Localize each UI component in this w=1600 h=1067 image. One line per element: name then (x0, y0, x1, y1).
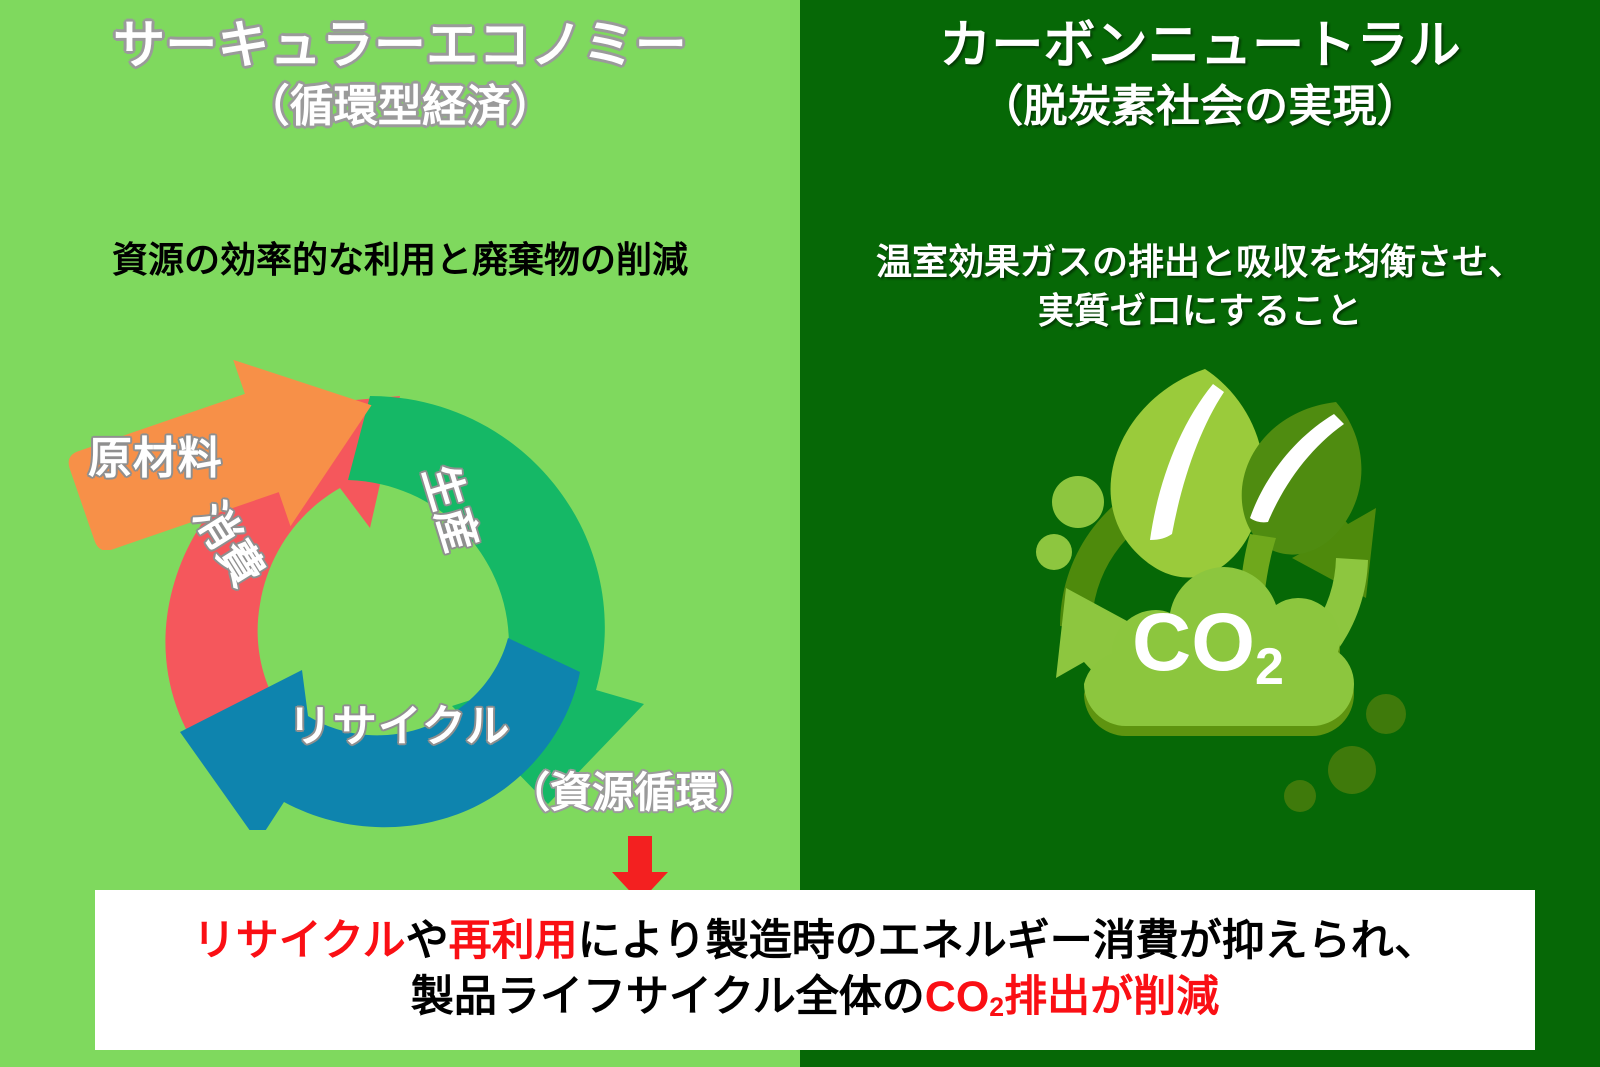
left-title-sub: （循環型経済） (0, 81, 800, 133)
left-title-main: サーキュラーエコノミー (0, 16, 800, 77)
decorative-dot (1328, 746, 1376, 794)
left-panel-caption: （資源循環） (508, 772, 760, 814)
conc-line2-segment-2: 2 (989, 992, 1004, 1022)
right-title-main: カーボンニュートラル (800, 16, 1600, 77)
conc-line1-segment-3: により製造時のエネルギー消費が抑えられ、 (578, 917, 1438, 965)
co2-cloud: CO2 (1084, 567, 1354, 736)
decorative-dot (1052, 476, 1104, 528)
right-panel-lead-text: 温室効果ガスの排出と吸収を均衡させ、 実質ゼロにすること (800, 238, 1600, 336)
co2-illustration-svg: CO2 (1000, 362, 1430, 812)
decorative-dot (1366, 694, 1406, 734)
conclusion-line-2: 製品ライフサイクル全体のCO2排出が削減 (411, 970, 1219, 1026)
left-panel-lead-text: 資源の効率的な利用と廃棄物の削減 (0, 236, 800, 285)
circular-economy-cycle-icon: 原材料 消費 生産 リサイクル (40, 360, 760, 830)
conclusion-box: リサイクルや再利用により製造時のエネルギー消費が抑えられ、 製品ライフサイクル全… (95, 890, 1535, 1050)
conc-line2-segment-3: 排出が削減 (1004, 973, 1219, 1021)
cycle-label-raw-material: 原材料 (88, 422, 223, 486)
right-lead-line2: 実質ゼロにすること (1038, 290, 1362, 331)
right-panel-title: カーボンニュートラル （脱炭素社会の実現） (800, 16, 1600, 133)
leaf-left (1111, 369, 1264, 578)
conclusion-line-1: リサイクルや再利用により製造時のエネルギー消費が抑えられ、 (193, 914, 1437, 970)
cycle-label-recycle: リサイクル (288, 690, 510, 754)
right-title-sub: （脱炭素社会の実現） (800, 81, 1600, 133)
conc-line1-segment-1: や (406, 917, 449, 965)
infographic-root: サーキュラーエコノミー （循環型経済） 資源の効率的な利用と廃棄物の削減 原材料 (0, 0, 1600, 1067)
decorative-dot (1036, 534, 1072, 570)
left-panel-title: サーキュラーエコノミー （循環型経済） (0, 16, 800, 133)
co2-subscript: 2 (1255, 638, 1284, 696)
conc-line2-segment-0: 製品ライフサイクル全体の (411, 973, 925, 1021)
decorative-dot (1284, 780, 1316, 812)
conc-line1-segment-2: 再利用 (449, 917, 578, 965)
co2-neutral-icon: CO2 (1000, 362, 1430, 812)
conc-line1-segment-0: リサイクル (193, 917, 406, 965)
right-lead-line1: 温室効果ガスの排出と吸収を均衡させ、 (876, 241, 1524, 282)
conc-line2-segment-1: CO (925, 973, 990, 1021)
